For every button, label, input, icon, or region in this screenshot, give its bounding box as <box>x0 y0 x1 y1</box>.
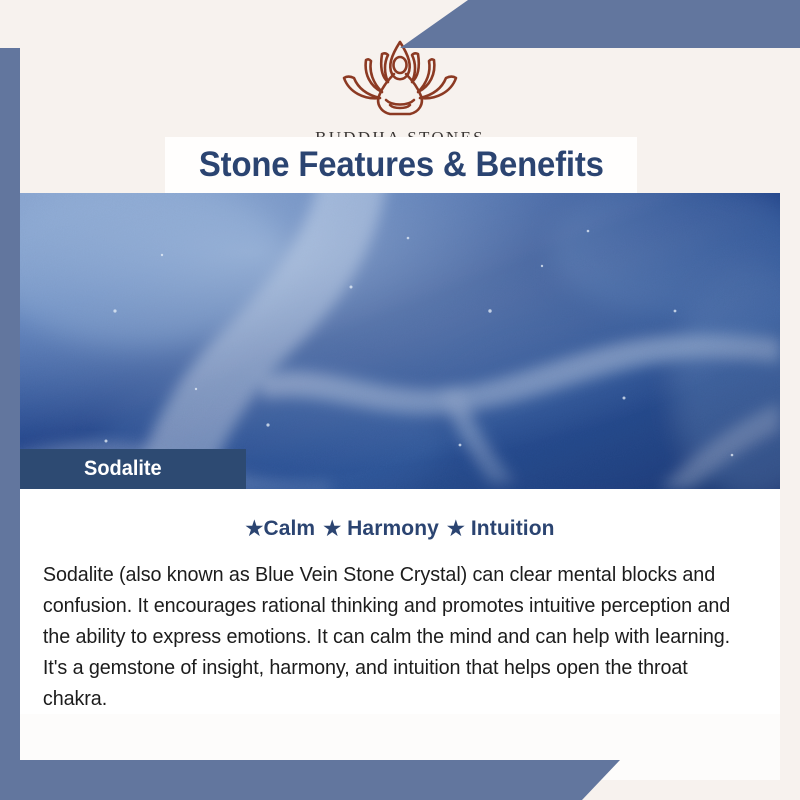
star-icon: ★ <box>245 518 263 540</box>
keyword-harmony: Harmony <box>347 517 439 540</box>
star-icon: ★ <box>447 518 465 540</box>
page-title: Stone Features & Benefits <box>199 145 604 185</box>
frame-bar-bottom <box>0 760 620 800</box>
stone-name-label: Sodalite <box>84 457 162 481</box>
frame-corner-top-right <box>400 0 800 48</box>
keyword-intuition: Intuition <box>471 517 555 540</box>
stone-description: Sodalite (also known as Blue Vein Stone … <box>40 559 735 714</box>
star-icon: ★ <box>323 518 341 540</box>
frame-edge-top-right <box>780 0 800 48</box>
stone-photo-graphic <box>20 193 780 489</box>
frame-edge-left <box>0 48 20 800</box>
card-body: ★Calm★ Harmony★ Intuition Sodalite (also… <box>20 489 780 714</box>
keyword-list: ★Calm★ Harmony★ Intuition <box>40 489 760 541</box>
stone-name-badge: Sodalite <box>20 449 246 489</box>
title-band: Stone Features & Benefits <box>165 137 637 193</box>
keyword-calm: Calm <box>263 517 315 540</box>
info-card: BUDDHA STONES Stone Features & Benefits <box>20 20 780 780</box>
stone-photo: Sodalite <box>20 193 780 489</box>
